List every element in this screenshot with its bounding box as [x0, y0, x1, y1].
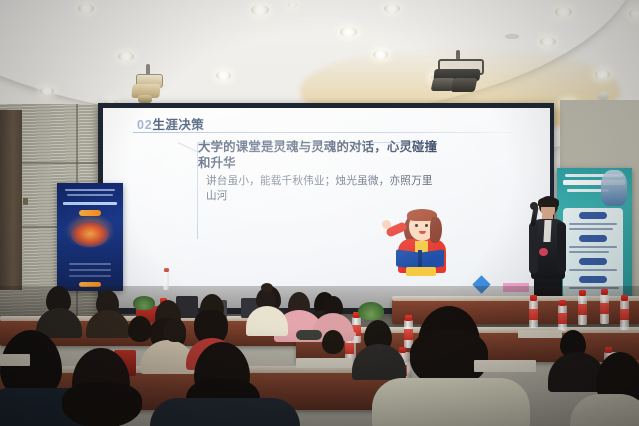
downlight — [78, 4, 94, 13]
microphone-head — [530, 202, 538, 210]
water-bottle — [578, 295, 587, 325]
right-roll-up-banner — [557, 168, 632, 303]
water-bottle — [620, 300, 629, 330]
audience-body-foreground — [570, 394, 639, 426]
downlight — [540, 37, 556, 46]
teacher-book-spine — [418, 250, 422, 268]
banner-right-chip — [579, 212, 607, 219]
presenter-fringe — [538, 197, 559, 207]
downlight — [555, 7, 572, 17]
audience-head — [128, 316, 152, 342]
teacher-eye-right — [425, 224, 428, 227]
banner-left-subheading — [63, 202, 117, 205]
banner-right-content-card — [563, 208, 623, 298]
banner-right-line — [569, 251, 609, 253]
audience-hair-foreground — [62, 382, 142, 426]
spotlight-lens — [138, 95, 152, 103]
slide-lead-text: 大学的课堂是灵魂与灵魂的对话，心灵碰撞和升华 — [198, 139, 448, 171]
presenter-badge — [539, 248, 548, 256]
wall-left-dark-column — [0, 110, 22, 290]
presenter-arm-right — [557, 222, 566, 274]
paper-sheet — [474, 360, 536, 372]
banner-right-line — [569, 228, 613, 230]
banner-left-graphic — [71, 221, 109, 247]
presenter — [528, 196, 568, 300]
banner-right-figure — [601, 170, 627, 206]
banner-left-heading — [65, 189, 115, 191]
banner-right-chip — [579, 276, 607, 283]
potted-plant — [358, 302, 384, 320]
lecture-hall-photo: 02生涯决策 大学的课堂是灵魂与灵魂的对话，心灵碰撞和升华 讲台虽小，能载千秋伟… — [0, 0, 639, 426]
ceiling-speaker — [505, 34, 519, 39]
presenter-arm-left — [529, 222, 538, 274]
downlight — [373, 50, 388, 59]
banner-right-chip — [579, 235, 607, 242]
banner-right-line — [569, 246, 617, 248]
teacher-lower-body — [406, 267, 436, 276]
audience-body-foreground — [150, 398, 300, 426]
water-bottle — [163, 272, 169, 290]
wall-fitting — [23, 198, 28, 205]
downlight — [384, 4, 400, 13]
downlight — [595, 70, 610, 79]
downlight — [216, 71, 231, 80]
banner-left-text — [69, 269, 111, 271]
teacher-hand — [382, 220, 391, 229]
slide-title: 02生涯决策 — [137, 114, 204, 133]
spotlight-fixture-right — [432, 50, 488, 98]
audience-head — [164, 318, 186, 342]
audience-head — [322, 330, 344, 354]
banner-left-text — [69, 263, 111, 265]
cartoon-teacher-illustration — [388, 203, 456, 275]
paper-sheet — [0, 354, 30, 366]
spotlight-barn-door-right — [451, 78, 478, 92]
downlight — [251, 5, 269, 15]
downlight — [118, 52, 134, 61]
audience-hair-bun — [261, 283, 273, 292]
downlight — [288, 2, 297, 8]
teacher-hair-side — [430, 217, 442, 243]
banner-left-text — [69, 275, 111, 277]
slide-section-number: 02 — [137, 118, 153, 132]
desk-microphone — [296, 330, 322, 340]
banner-left-heading — [67, 194, 113, 196]
title-divider-rule — [133, 132, 523, 133]
spotlight-fixture-left — [130, 64, 170, 106]
downlight — [40, 87, 54, 95]
left-roll-up-banner — [57, 183, 123, 291]
paper-sheet — [296, 358, 352, 368]
teacher-eye-left — [415, 224, 418, 227]
slide-sub-text: 讲台虽小，能载千秋伟业；烛光虽微，亦照万里山河 — [206, 174, 436, 203]
presenter-shirt — [543, 220, 551, 242]
audience-body-foreground — [372, 378, 530, 426]
downlight — [340, 27, 357, 37]
banner-right-chip — [579, 258, 607, 265]
slide-section-title: 生涯决策 — [153, 118, 205, 132]
banner-right-line — [569, 223, 617, 225]
projection-screen[interactable]: 02生涯决策 大学的课堂是灵魂与灵魂的对话，心灵碰撞和升华 讲台虽小，能载千秋伟… — [103, 108, 550, 308]
paper-sheet — [518, 330, 562, 338]
ceiling-dome-camera — [597, 92, 609, 100]
water-bottle — [558, 305, 567, 331]
water-bottle — [600, 294, 609, 324]
downlight — [629, 9, 639, 18]
water-bottle — [529, 300, 538, 328]
banner-left-pill — [79, 210, 101, 216]
banner-right-line — [569, 269, 617, 271]
potted-plant — [133, 296, 155, 310]
